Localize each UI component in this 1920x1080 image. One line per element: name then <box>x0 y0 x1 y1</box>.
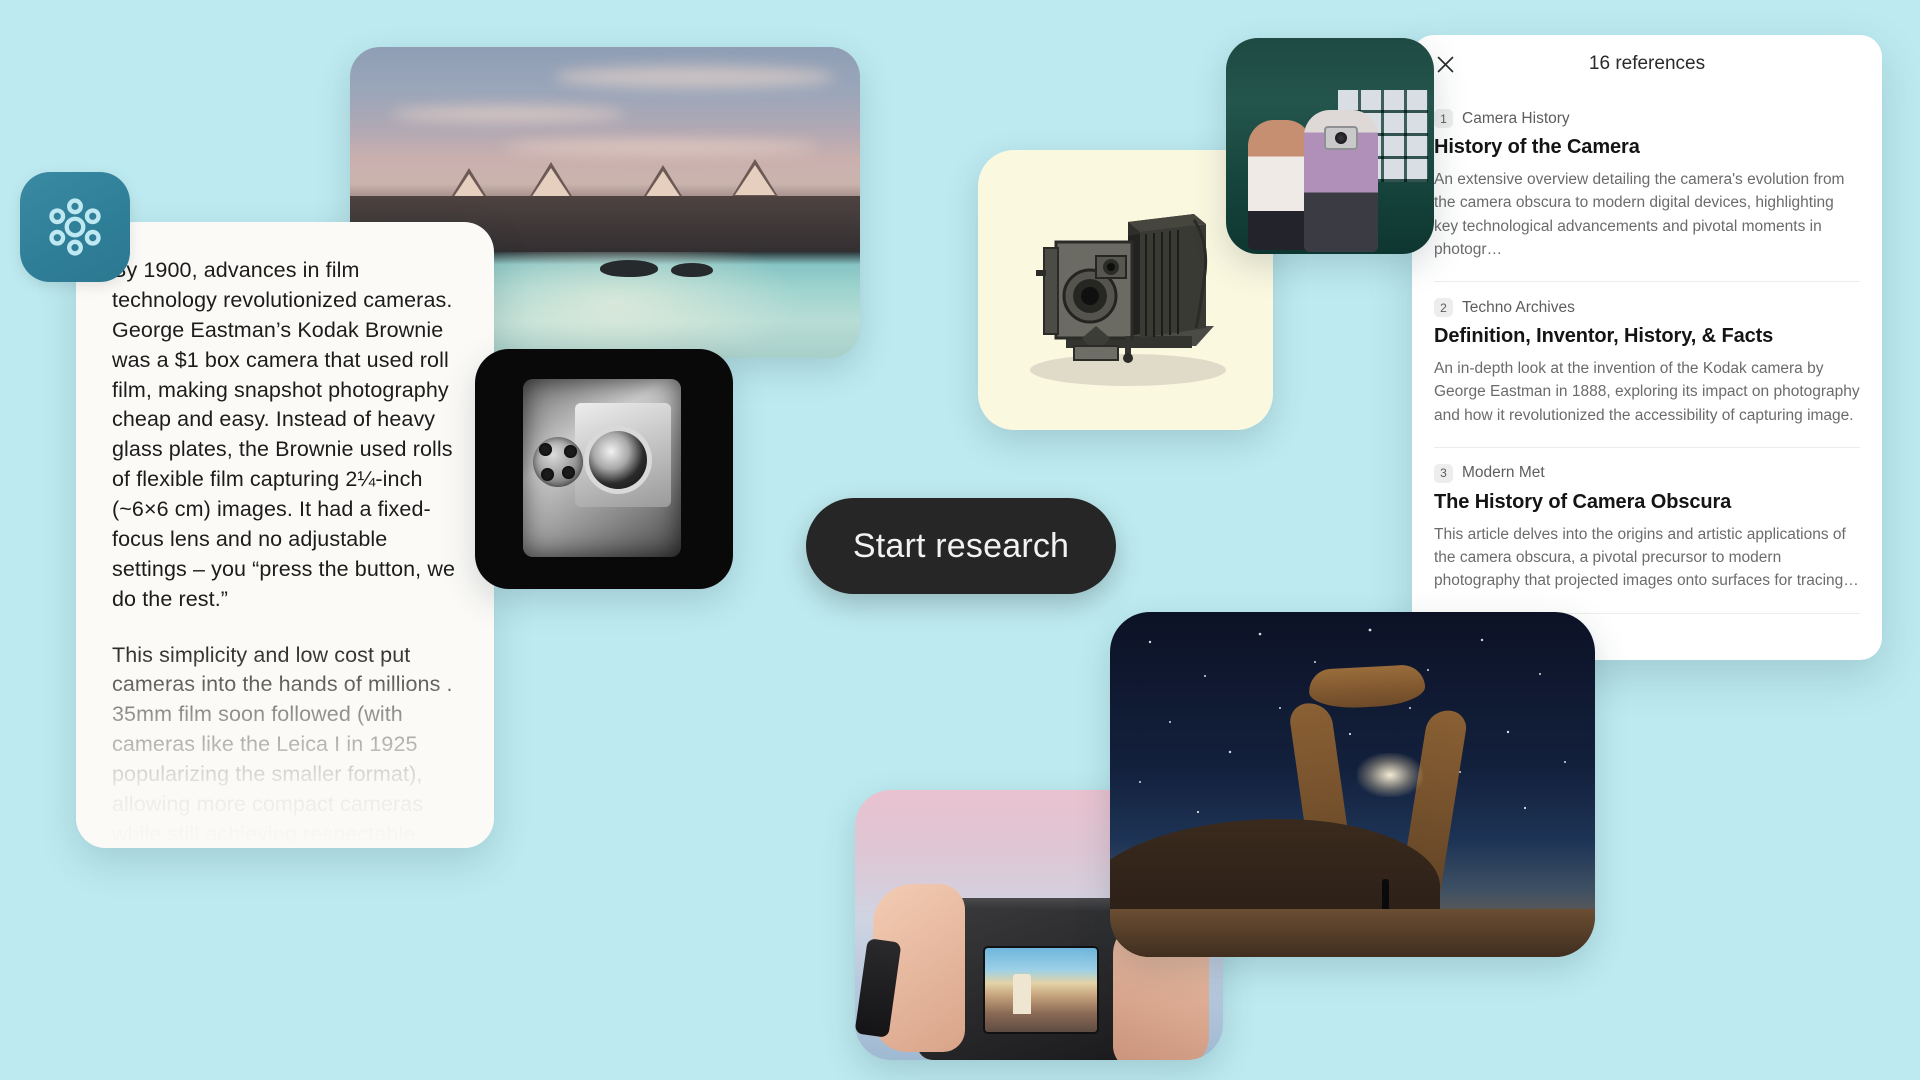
cloud-streak <box>554 66 835 88</box>
reference-number: 3 <box>1434 464 1453 483</box>
night-arch-landscape-image[interactable] <box>1110 612 1595 957</box>
lake-islet <box>671 263 713 277</box>
reference-source: 1 Camera History <box>1434 109 1860 128</box>
text-paragraph-2: This simplicity and low cost put cameras… <box>112 641 458 849</box>
reference-title: The History of Camera Obscura <box>1434 491 1860 514</box>
person-left <box>1248 120 1312 250</box>
reference-source-name: Modern Met <box>1462 464 1545 482</box>
app-logo[interactable] <box>20 172 130 282</box>
compact-camera <box>1324 126 1358 150</box>
research-text-panel[interactable]: By 1900, advances in film technology rev… <box>76 222 494 848</box>
references-header: 16 references <box>1412 35 1882 93</box>
desert-ground <box>1110 909 1595 957</box>
reference-source: 3 Modern Met <box>1434 464 1860 483</box>
camera-lens <box>589 431 647 489</box>
canvas: By 1900, advances in film technology rev… <box>0 0 1920 1080</box>
person-silhouette <box>1382 879 1389 909</box>
reference-item[interactable]: 3 Modern Met The History of Camera Obscu… <box>1434 448 1860 614</box>
reference-source-name: Camera History <box>1462 110 1570 128</box>
references-list: 1 Camera History History of the Camera A… <box>1412 93 1882 660</box>
black-and-white-camera-photo[interactable] <box>475 349 733 589</box>
close-icon[interactable] <box>1430 49 1460 79</box>
reference-source-name: Techno Archives <box>1462 299 1575 317</box>
cloud-streak <box>503 140 819 154</box>
reference-number: 2 <box>1434 298 1453 317</box>
lens-turret <box>533 437 583 487</box>
reference-number: 1 <box>1434 109 1453 128</box>
reference-title: History of the Camera <box>1434 136 1860 159</box>
lake-islet <box>600 260 658 277</box>
start-research-button[interactable]: Start research <box>806 498 1116 594</box>
reference-item[interactable]: 1 Camera History History of the Camera A… <box>1434 93 1860 282</box>
reference-source: 2 Techno Archives <box>1434 298 1860 317</box>
reference-item[interactable]: 2 Techno Archives Definition, Inventor, … <box>1434 282 1860 448</box>
couple-with-camera-photo[interactable] <box>1226 38 1434 254</box>
camera-lcd-screen <box>985 948 1097 1032</box>
camera-plate <box>523 379 681 557</box>
reference-description: An in-depth look at the invention of the… <box>1434 357 1860 427</box>
flower-gear-icon <box>42 194 108 260</box>
cloud-streak <box>391 106 626 122</box>
arch-light-glow <box>1357 753 1423 797</box>
references-panel[interactable]: 16 references 1 Camera History History o… <box>1412 35 1882 660</box>
reference-title: Definition, Inventor, History, & Facts <box>1434 325 1860 348</box>
reference-description: An extensive overview detailing the came… <box>1434 168 1860 261</box>
references-title: 16 references <box>1589 53 1705 75</box>
reference-description: This article delves into the origins and… <box>1434 523 1860 593</box>
text-paragraph-1: By 1900, advances in film technology rev… <box>112 256 458 615</box>
